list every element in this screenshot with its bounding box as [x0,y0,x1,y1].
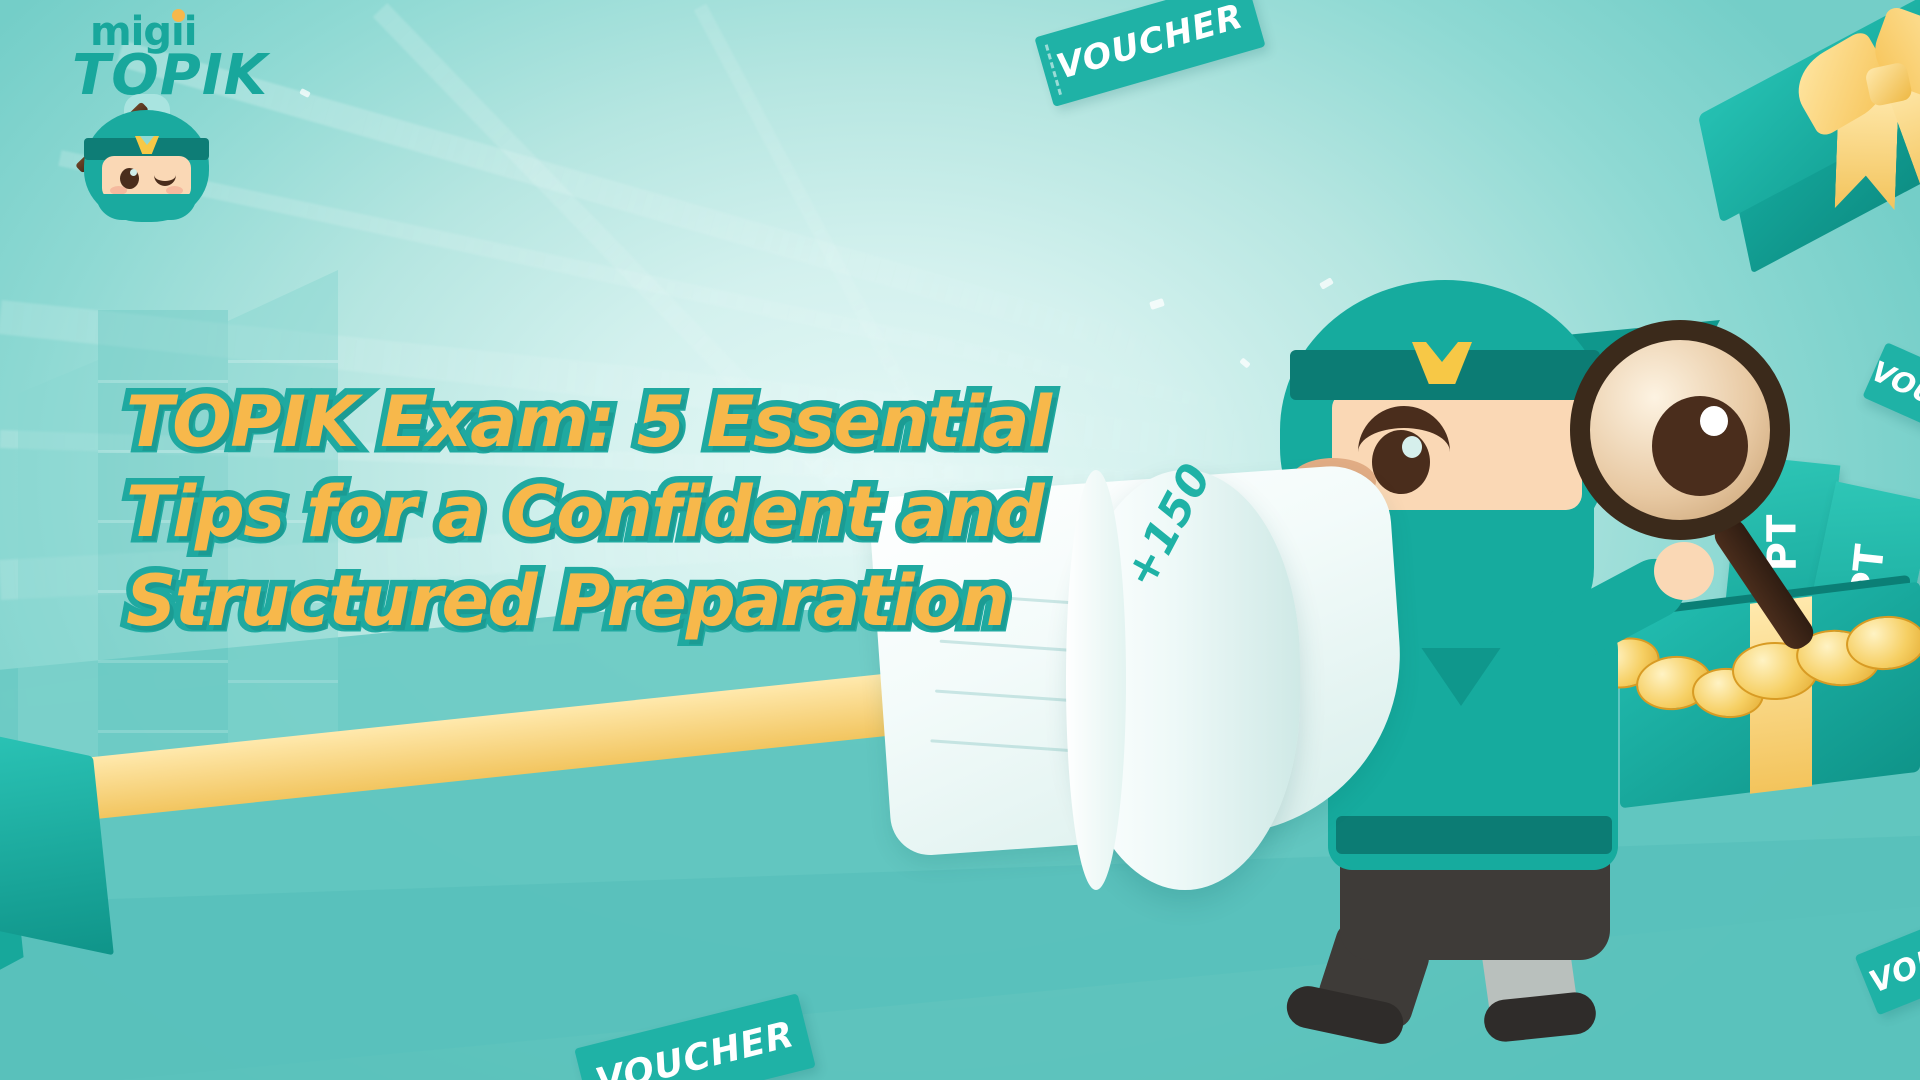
magnifying-glass-icon [1570,320,1790,540]
building-face [18,360,98,780]
gift-box-top-right [1678,0,1920,256]
headline-line-2: Tips for a Confident and [126,468,1146,558]
logo-mascot-head-icon [84,110,209,222]
logo-accent-dot [172,9,185,22]
logo-text-topik: TOPIK [72,48,268,104]
promo-banner: migii TOPIK VOUCHER [0,0,1920,1080]
voucher-label: VOUCHER [1867,354,1920,446]
headline-line-1: TOPIK Exam: 5 Essential [126,378,1146,468]
brand-logo[interactable]: migii TOPIK [62,6,262,221]
voucher-label: VOUCHER [1052,0,1248,88]
voucher-ticket-far-right: VOUCHER [1862,342,1920,458]
page-title: TOPIK Exam: 5 Essential Tips for a Confi… [126,378,1146,647]
headline-line-3: Structured Preparation [126,557,1146,647]
voucher-ticket-top: VOUCHER [1034,0,1265,107]
